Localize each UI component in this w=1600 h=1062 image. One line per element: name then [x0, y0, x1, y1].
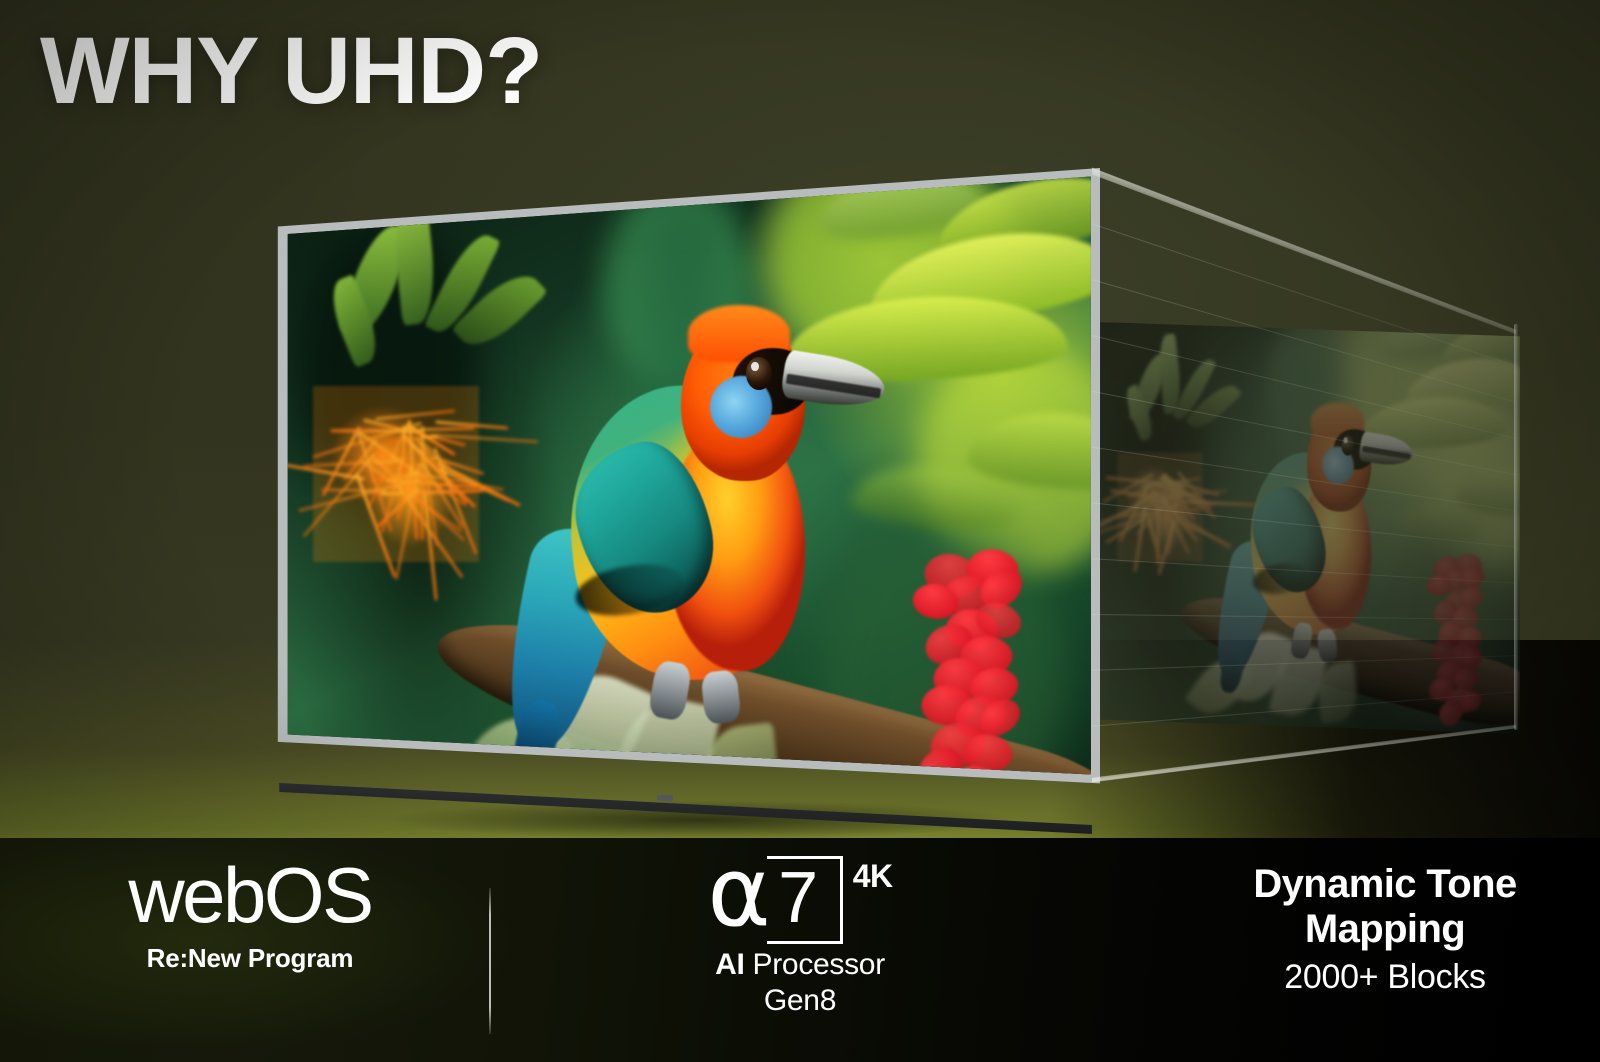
tv-ir-sensor: [657, 795, 673, 802]
red-flower-cluster: [901, 549, 1050, 821]
feature-dynamic-tone-mapping: Dynamic Tone Mapping 2000+ Blocks: [1185, 862, 1585, 997]
feature-alpha7-processor: α 7 4K AI Processor Gen8: [610, 852, 990, 1018]
webos-subtitle: Re:New Program: [60, 943, 440, 974]
alpha7-logo: α 7 4K: [610, 852, 990, 944]
ai-label: AI: [715, 948, 744, 981]
resolution-badge: 4K: [853, 858, 893, 895]
seven-box-icon: 7: [767, 856, 843, 944]
vertical-divider-icon: [489, 888, 491, 1034]
screen-scene: [272, 168, 1100, 848]
bird-eye-glint: [751, 362, 758, 372]
alpha7-subtitle: AI Processor: [610, 948, 990, 982]
ghost-plane-edge: [1514, 324, 1518, 730]
tv-bezel: [272, 168, 1100, 848]
alpha-symbol-icon: α: [707, 848, 766, 936]
webos-logo: webOS: [60, 854, 440, 937]
dtm-title: Dynamic Tone Mapping: [1185, 862, 1585, 952]
bird-eye: [746, 357, 772, 390]
dtm-title-line2: Mapping: [1185, 907, 1585, 952]
ghost-image-plane: [1100, 322, 1520, 734]
orange-spider-flower: [313, 386, 479, 563]
tv-screen: [272, 168, 1100, 848]
processor-number: 7: [778, 866, 818, 931]
dtm-title-line1: Dynamic Tone: [1185, 862, 1585, 907]
processor-label: Processor: [745, 948, 885, 981]
motmot-bird: [520, 290, 884, 766]
ghost-scene: [1100, 322, 1520, 734]
promo-banner: WHY UHD?: [0, 0, 1600, 1062]
feature-webos: webOS Re:New Program: [60, 854, 440, 974]
dtm-subtitle: 2000+ Blocks: [1185, 958, 1585, 997]
feature-bar: webOS Re:New Program α 7 4K AI Processor…: [0, 838, 1600, 1062]
page-title: WHY UHD?: [40, 22, 542, 122]
alpha7-generation: Gen8: [610, 984, 990, 1018]
bird-foot: [700, 669, 742, 725]
